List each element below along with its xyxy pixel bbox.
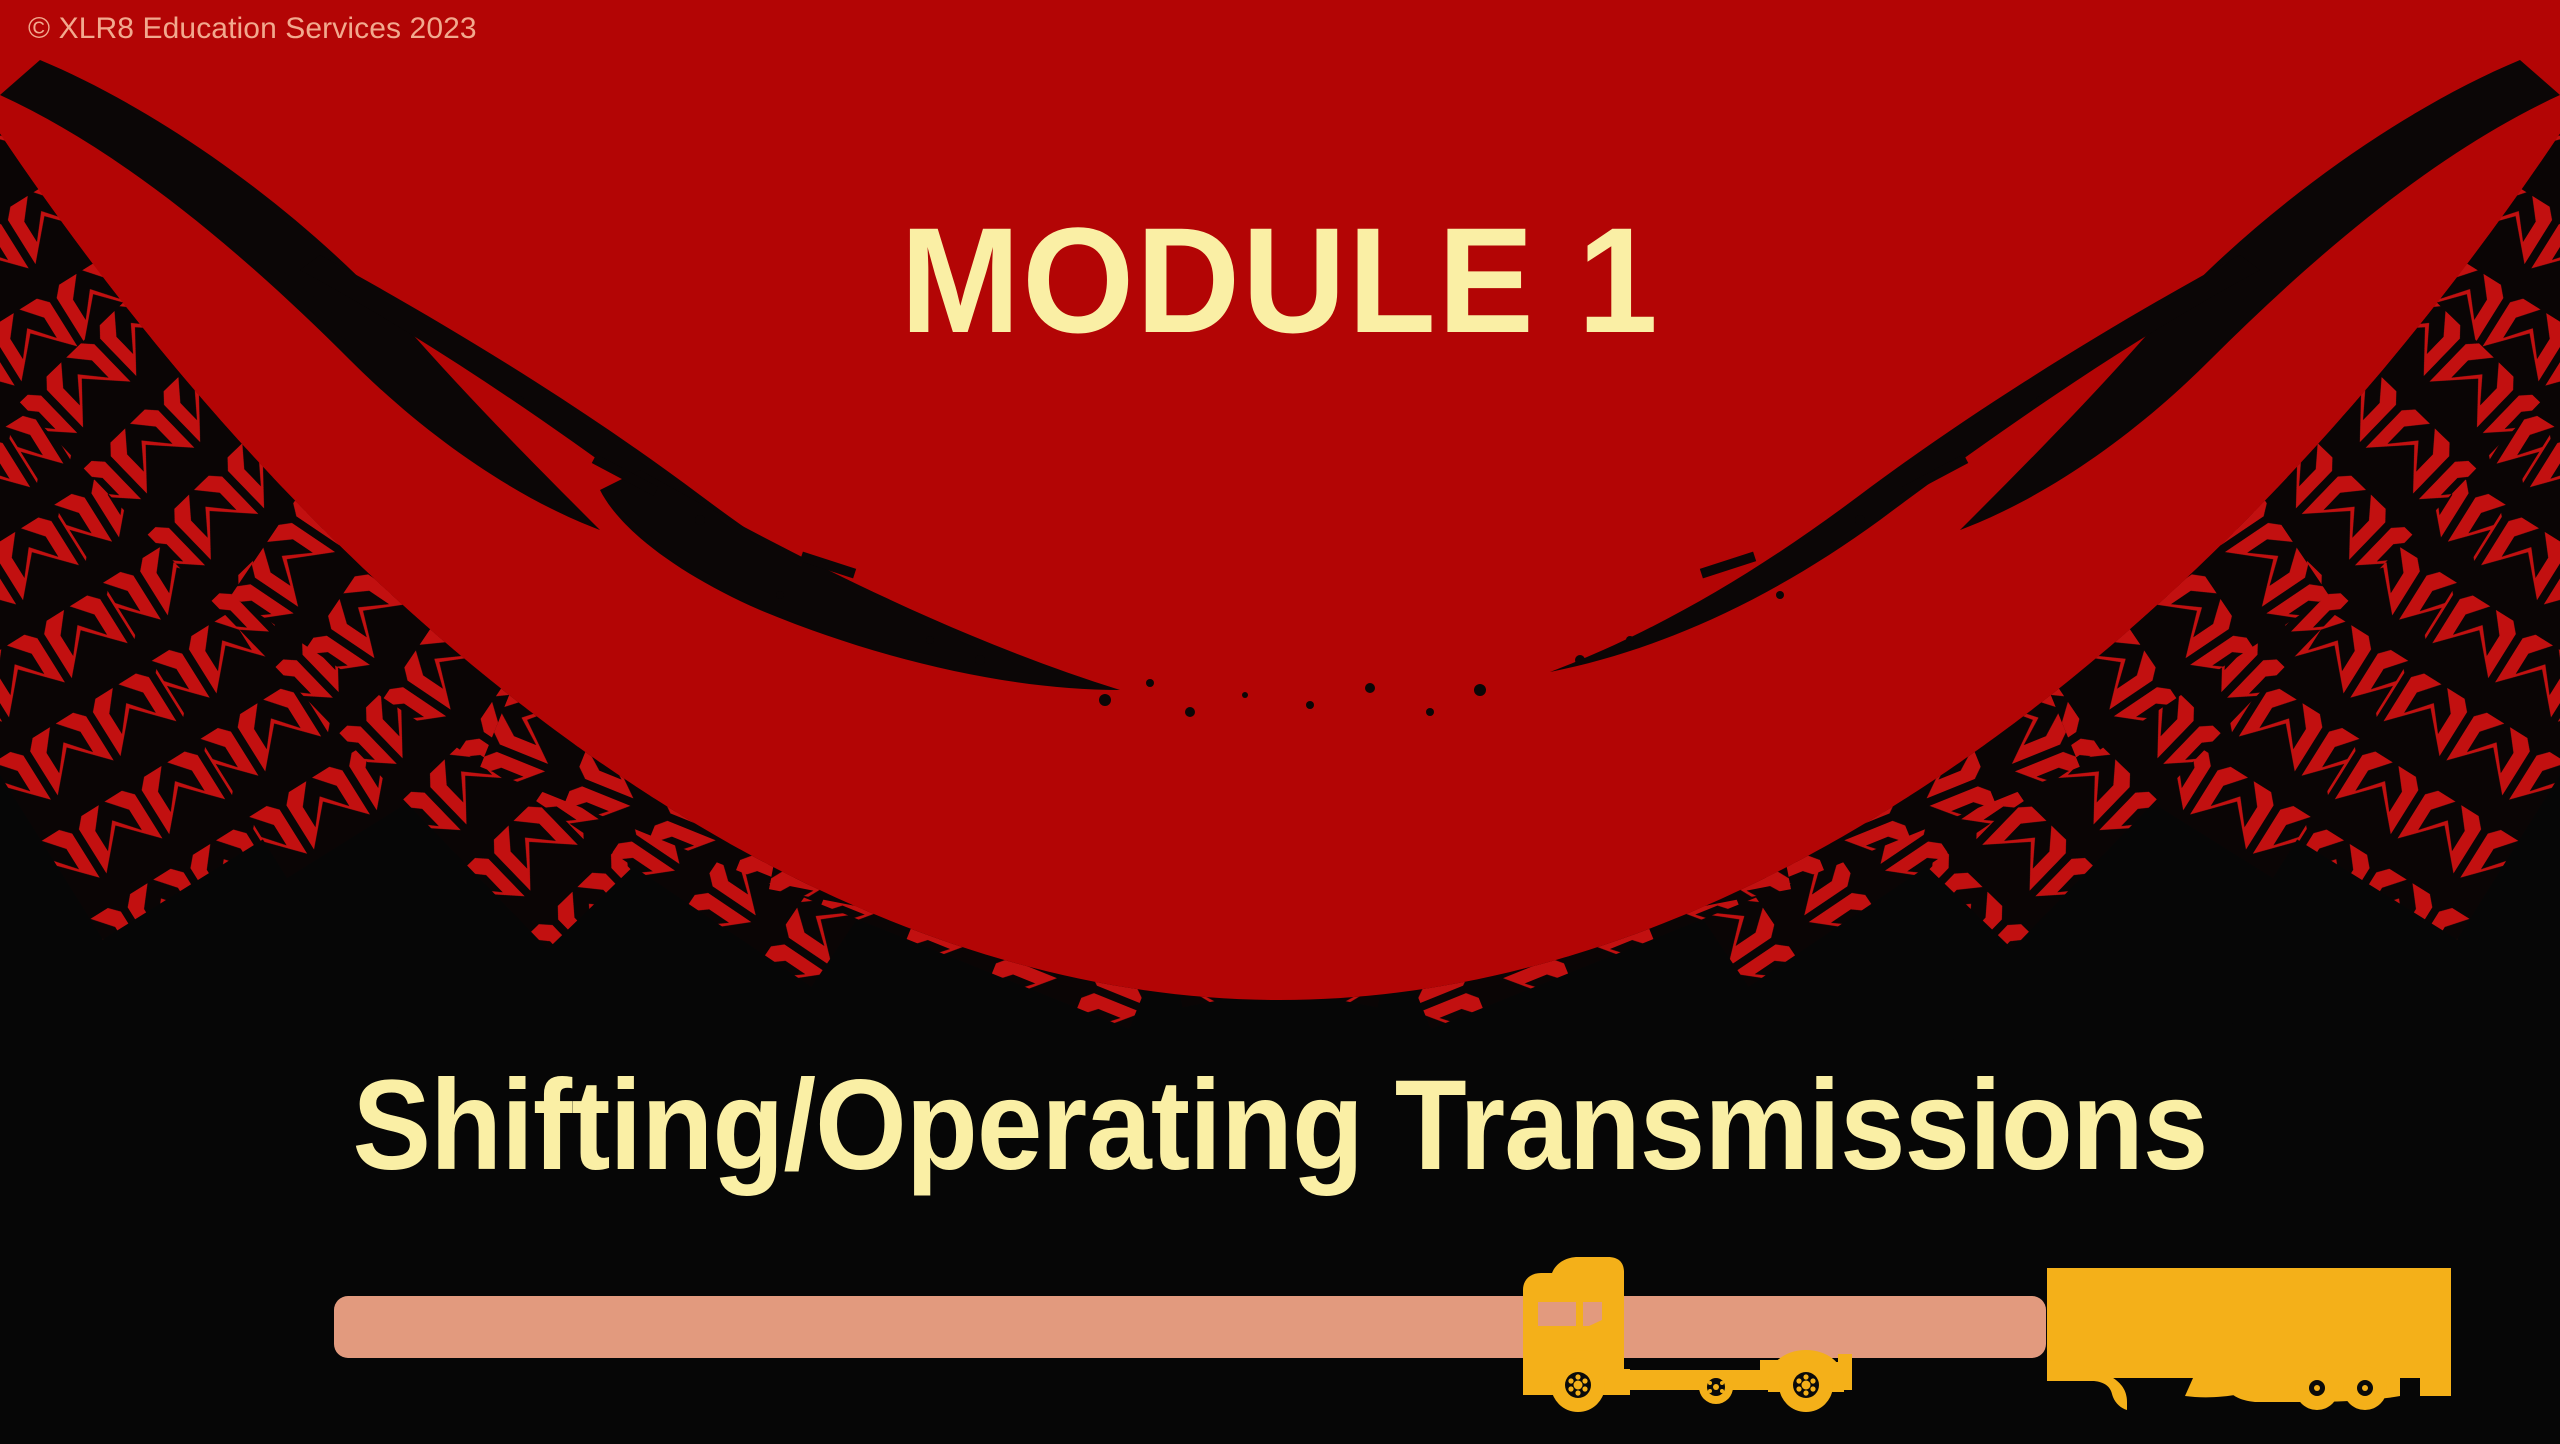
page-title: MODULE 1 — [51, 205, 2509, 355]
semi-truck-illustration — [0, 1250, 2560, 1444]
page-subtitle: Shifting/Operating Transmissions — [102, 1062, 2457, 1190]
slide-canvas: © XLR8 Education Services 2023 MODULE 1 … — [0, 0, 2560, 1444]
copyright-notice: © XLR8 Education Services 2023 — [28, 12, 477, 46]
